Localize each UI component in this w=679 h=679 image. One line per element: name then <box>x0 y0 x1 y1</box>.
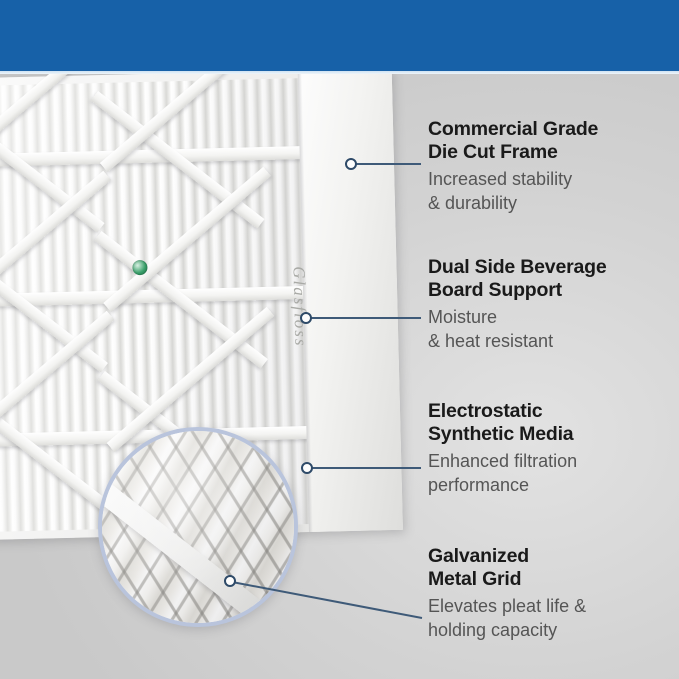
callout-title: Electrostatic Synthetic Media <box>428 400 672 446</box>
callout-electrostatic-synthetic-media: Electrostatic Synthetic Media Enhanced f… <box>428 400 672 497</box>
leader-line-3 <box>311 467 421 469</box>
callout-commercial-grade-die-cut-frame: Commercial Grade Die Cut Frame Increased… <box>428 118 672 215</box>
callout-dual-side-beverage-board-support: Dual Side Beverage Board Support Moistur… <box>428 256 676 353</box>
leader-line-1 <box>355 163 421 165</box>
leader-line-4 <box>230 580 430 679</box>
callout-body: Increased stability & durability <box>428 167 672 215</box>
callout-title: Dual Side Beverage Board Support <box>428 256 676 302</box>
leader-line-2 <box>310 317 421 319</box>
specifications-infographic: Glasfloss Commercial Grade Die Cut Frame… <box>0 0 679 679</box>
callout-body: Moisture & heat resistant <box>428 305 676 353</box>
callout-title: Galvanized Metal Grid <box>428 545 672 591</box>
leader-dot-3 <box>301 462 313 474</box>
leader-dot-1 <box>345 158 357 170</box>
filter-side-rail <box>298 68 403 532</box>
filter-brand-label: Glasfloss <box>288 266 310 348</box>
callout-galvanized-metal-grid: Galvanized Metal Grid Elevates pleat lif… <box>428 545 672 642</box>
header-underline <box>0 71 679 74</box>
callout-body: Enhanced filtration performance <box>428 449 672 497</box>
callout-title: Commercial Grade Die Cut Frame <box>428 118 672 164</box>
callout-body: Elevates pleat life & holding capacity <box>428 594 672 642</box>
header-bar <box>0 0 679 71</box>
leader-dot-2 <box>300 312 312 324</box>
leader-dot-4 <box>224 575 236 587</box>
